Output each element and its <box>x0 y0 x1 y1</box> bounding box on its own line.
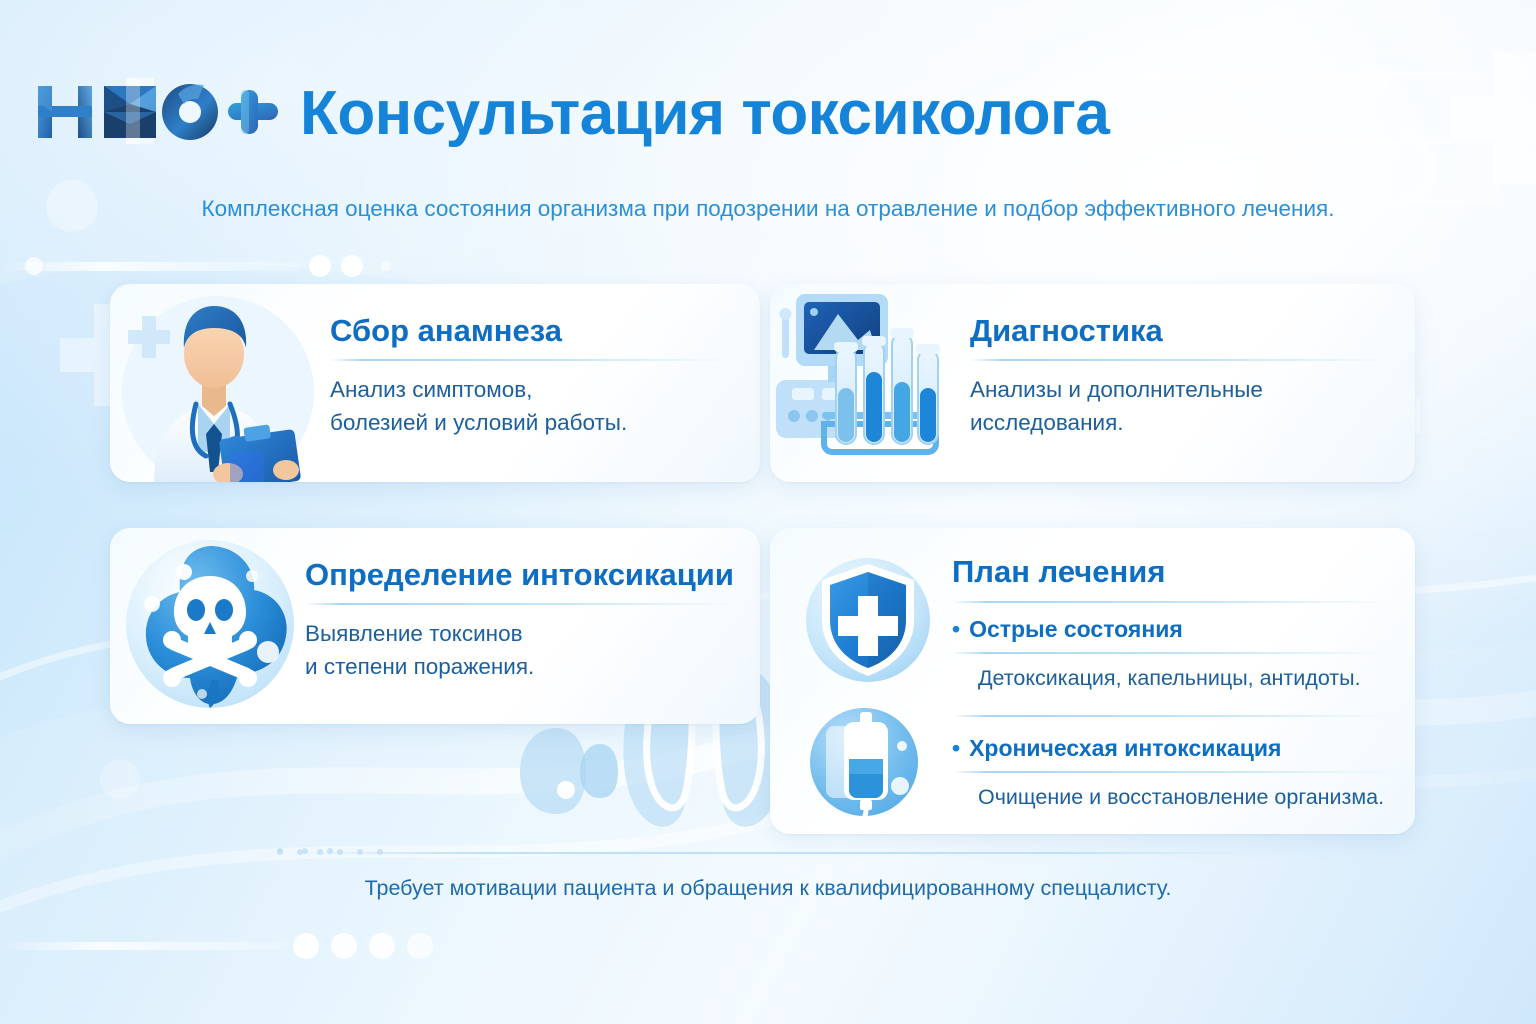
bullet-icon: • <box>952 735 960 761</box>
card-diagnostics[interactable]: Диагностика Анализы и дополнительные исс… <box>770 284 1415 482</box>
card-divider <box>970 359 1391 361</box>
plan-item-heading: •Острые состояния <box>952 616 1391 643</box>
card-divider <box>305 603 740 605</box>
plan-divider-top <box>952 601 1391 603</box>
card-treatment-plan[interactable]: План лечения •Острые состояния Детоксика… <box>770 528 1415 834</box>
brand-logo <box>30 72 280 148</box>
lab-equipment-illustration <box>770 284 980 482</box>
page-subtitle: Комплексная оценка состояния организма п… <box>0 196 1536 222</box>
card-anamnesis[interactable]: Сбор анамнеза Анализ симптомов, болезией… <box>110 284 760 482</box>
card-text: Выявление токсинов и степени поражения. <box>305 618 740 683</box>
card-text: Анализ симптомов, болезией и условий раб… <box>330 374 732 439</box>
footer-note: Требует мотивации пациента и обращения к… <box>0 876 1536 901</box>
iv-drip-icon <box>804 704 928 822</box>
infographic-root: Консультация токсиколога Комплексная оце… <box>0 0 1536 1024</box>
card-text: Анализы и дополнительные исследования. <box>970 374 1391 439</box>
plan-item[interactable]: •Хроничесхая интоксикация Очищение и вос… <box>952 735 1391 810</box>
plan-item-text: Очищение и восстановление организма. <box>952 785 1391 810</box>
doctor-illustration <box>110 284 320 482</box>
plan-item[interactable]: •Острые состояния Детоксикация, капельни… <box>952 616 1391 691</box>
bullet-icon: • <box>952 616 960 642</box>
header: Консультация токсиколога <box>0 0 1536 180</box>
plan-item-heading: •Хроничесхая интоксикация <box>952 735 1391 762</box>
plan-item-divider <box>952 771 1391 773</box>
plan-item-text: Детоксикация, капельницы, антидоты. <box>952 666 1391 691</box>
card-title: Определение интоксикации <box>305 558 740 592</box>
page-title: Консультация токсиколога <box>300 78 1109 149</box>
card-title: Сбор анамнеза <box>330 314 732 348</box>
skull-toxin-icon <box>110 528 310 724</box>
card-divider <box>330 359 732 361</box>
card-title: Диагностика <box>970 314 1391 348</box>
plan-title: План лечения <box>952 554 1391 590</box>
plan-item-divider <box>952 652 1391 654</box>
plan-section-divider <box>952 715 1391 717</box>
shield-cross-icon <box>798 552 938 688</box>
footer-divider <box>290 852 1246 854</box>
card-intoxication[interactable]: Определение интоксикации Выявление токси… <box>110 528 760 724</box>
